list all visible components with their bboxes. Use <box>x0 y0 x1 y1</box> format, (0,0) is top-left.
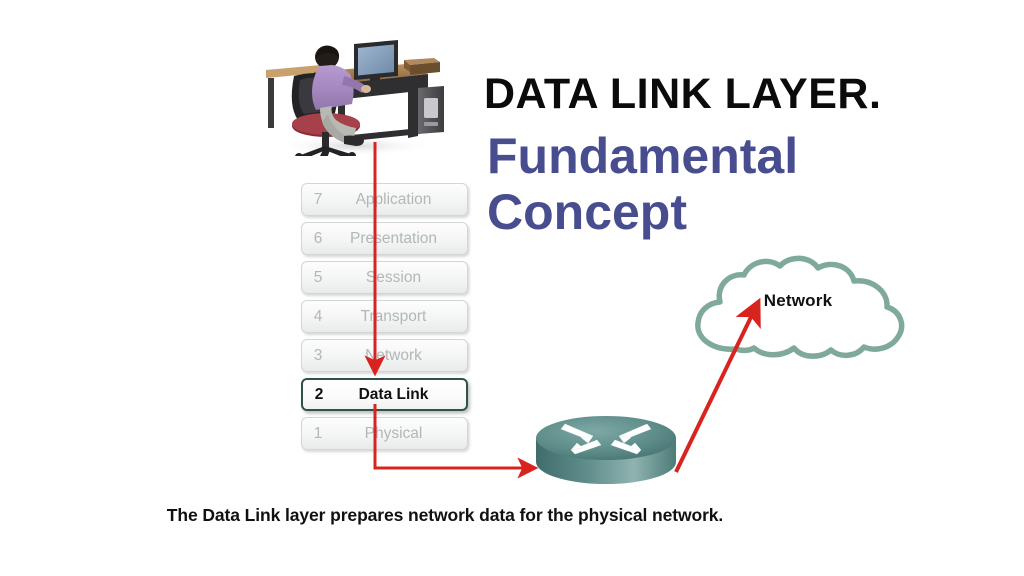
osi-layer-presentation[interactable]: 6 Presentation <box>301 222 468 255</box>
osi-layer-session[interactable]: 5 Session <box>301 261 468 294</box>
osi-layer-application[interactable]: 7 Application <box>301 183 468 216</box>
layer-label: Session <box>334 269 467 287</box>
subtitle-line-2: Concept <box>487 184 887 240</box>
osi-layer-transport[interactable]: 4 Transport <box>301 300 468 333</box>
osi-layer-network[interactable]: 3 Network <box>301 339 468 372</box>
layer-label: Presentation <box>334 230 467 248</box>
page-title: DATA LINK LAYER. <box>484 70 881 119</box>
router-icon <box>531 412 681 488</box>
layer-label: Application <box>334 191 467 209</box>
layer-number: 2 <box>303 386 335 404</box>
layer-number: 4 <box>302 308 334 326</box>
layer-number: 7 <box>302 191 334 209</box>
page-subtitle: Fundamental Concept <box>487 128 887 240</box>
user-at-computer-illustration <box>258 28 454 156</box>
layer-number: 5 <box>302 269 334 287</box>
subtitle-line-1: Fundamental <box>487 128 798 184</box>
slide-canvas: DATA LINK LAYER. Fundamental Concept 7 A… <box>0 0 1024 576</box>
osi-layer-data-link[interactable]: 2 Data Link <box>301 378 468 411</box>
layer-number: 3 <box>302 347 334 365</box>
osi-layer-stack: 7 Application 6 Presentation 5 Session 4… <box>301 183 468 456</box>
network-cloud-label: Network <box>678 291 918 311</box>
caption-text: The Data Link layer prepares network dat… <box>0 505 890 526</box>
osi-layer-physical[interactable]: 1 Physical <box>301 417 468 450</box>
layer-number: 1 <box>302 425 334 443</box>
layer-label: Network <box>334 347 467 365</box>
layer-label: Transport <box>334 308 467 326</box>
layer-label: Physical <box>334 425 467 443</box>
layer-number: 6 <box>302 230 334 248</box>
layer-label: Data Link <box>335 386 466 404</box>
